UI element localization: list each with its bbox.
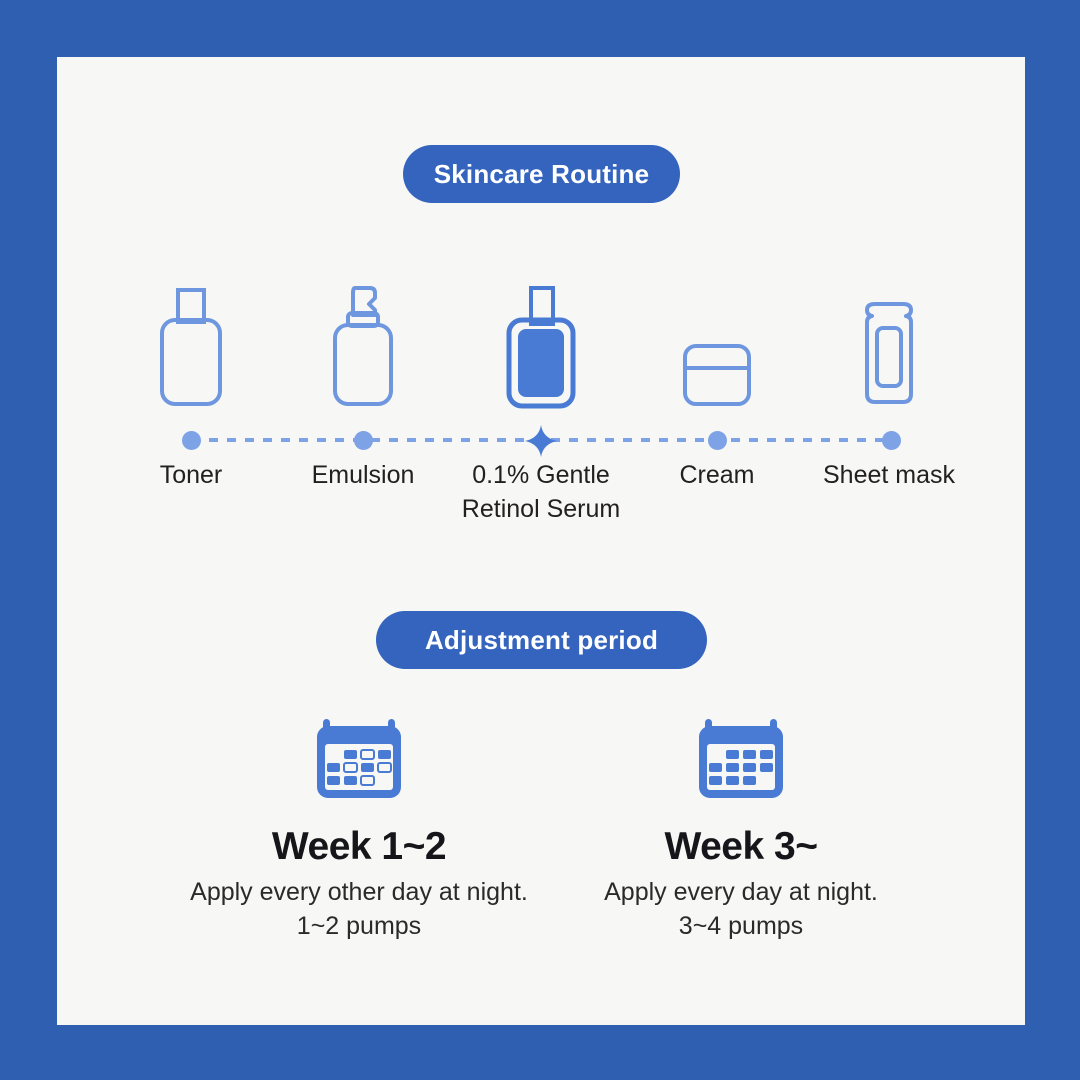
calendar-every-day-icon (541, 707, 941, 807)
timeline-node-sheet-mask (882, 431, 901, 450)
routine-step-retinol-serum: 0.1% Gentle Retinol Serum (461, 252, 621, 527)
adjustment-card-week-3: Week 3~ Apply every day at night. 3~4 pu… (541, 707, 941, 941)
serum-bottle-filled-icon (461, 252, 621, 412)
routine-step-label-line1: 0.1% Gentle (472, 461, 610, 489)
routine-step-label: Sheet mask (809, 459, 969, 493)
outer-blue-frame: Skincare Routine Toner (0, 0, 1080, 1080)
adjustment-card-line2: 3~4 pumps (541, 912, 941, 941)
routine-step-label-line2: Retinol Serum (462, 495, 620, 523)
routine-step-label: 0.1% Gentle Retinol Serum (461, 459, 621, 527)
timeline-node-toner (182, 431, 201, 450)
toner-bottle-icon (111, 252, 271, 412)
routine-timeline (57, 425, 1025, 455)
emulsion-pump-bottle-icon (283, 252, 443, 412)
routine-step-cream: Cream (637, 252, 797, 493)
routine-step-label: Toner (111, 459, 271, 493)
calendar-alternate-days-icon (159, 707, 559, 807)
content-card: Skincare Routine Toner (57, 57, 1025, 1025)
skincare-routine-pill: Skincare Routine (403, 145, 680, 203)
adjustment-card-line1: Apply every day at night. (541, 878, 941, 907)
timeline-node-emulsion (354, 431, 373, 450)
routine-steps-row: Toner Emulsion (57, 252, 1025, 552)
routine-step-label: Cream (637, 459, 797, 493)
timeline-node-cream (708, 431, 727, 450)
sheet-mask-pouch-icon (809, 252, 969, 412)
routine-step-emulsion: Emulsion (283, 252, 443, 493)
adjustment-card-line2: 1~2 pumps (159, 912, 559, 941)
routine-step-label: Emulsion (283, 459, 443, 493)
adjustment-period-pill: Adjustment period (376, 611, 707, 669)
cream-jar-icon (637, 252, 797, 412)
routine-step-sheet-mask: Sheet mask (809, 252, 969, 493)
adjustment-card-title: Week 3~ (541, 825, 941, 869)
adjustment-card-line1: Apply every other day at night. (159, 878, 559, 907)
adjustment-card-title: Week 1~2 (159, 825, 559, 869)
routine-step-toner: Toner (111, 252, 271, 493)
adjustment-card-week-1-2: Week 1~2 Apply every other day at night.… (159, 707, 559, 941)
timeline-node-serum-star (525, 425, 557, 457)
